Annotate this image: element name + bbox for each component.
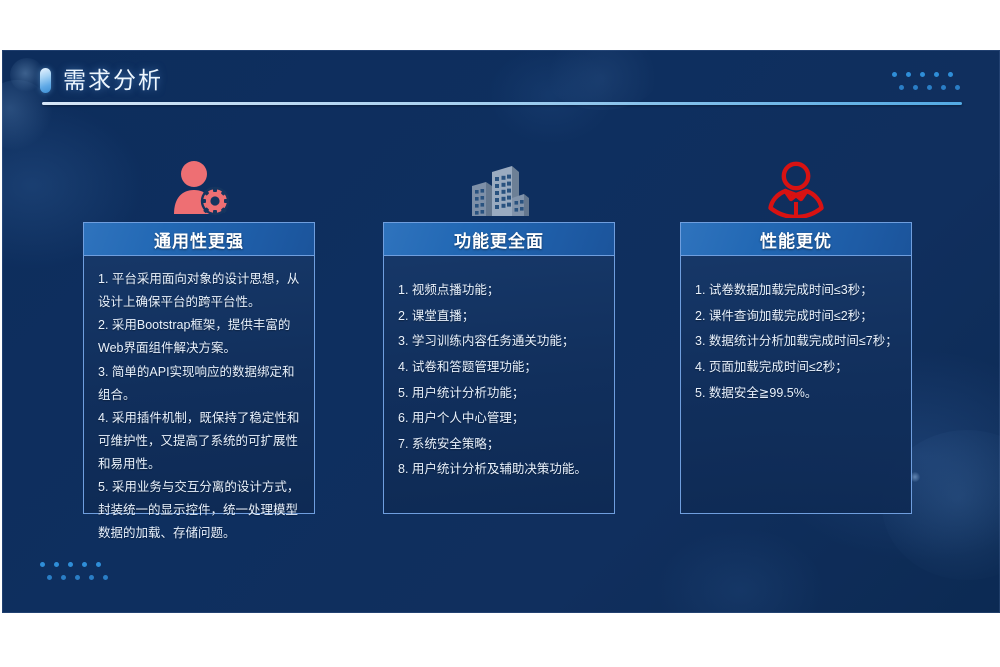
card-body: 1. 平台采用面向对象的设计思想，从设计上确保平台的跨平台性。 2. 采用Boo…: [84, 256, 314, 513]
card-line: 5. 数据安全≧99.5%。: [695, 381, 898, 407]
dot: [899, 85, 904, 90]
card-line: 3. 简单的API实现响应的数据绑定和组合。: [98, 361, 301, 407]
dot: [103, 575, 108, 580]
dot: [906, 72, 911, 77]
card-panel: 功能更全面 1. 视频点播功能； 2. 课堂直播； 3. 学习训练内容任务通关功…: [383, 222, 615, 514]
title-divider: [42, 102, 962, 105]
user-settings-icon: [83, 150, 315, 222]
card-line: 4. 采用插件机制，既保持了稳定性和可维护性，又提高了系统的可扩展性和易用性。: [98, 407, 301, 476]
dot: [934, 72, 939, 77]
title-bullet-icon: [40, 68, 51, 93]
card-line: 5. 用户统计分析功能；: [398, 381, 601, 407]
card-panel: 通用性更强 1. 平台采用面向对象的设计思想，从设计上确保平台的跨平台性。 2.…: [83, 222, 315, 514]
card-line: 3. 数据统计分析加载完成时间≤7秒；: [695, 329, 898, 355]
card-body: 1. 试卷数据加载完成时间≤3秒； 2. 课件查询加载完成时间≤2秒； 3. 数…: [681, 256, 911, 513]
card-title: 通用性更强: [84, 223, 314, 256]
dot: [955, 85, 960, 90]
dot: [892, 72, 897, 77]
card-line: 2. 课件查询加载完成时间≤2秒；: [695, 304, 898, 330]
card-panel: 性能更优 1. 试卷数据加载完成时间≤3秒； 2. 课件查询加载完成时间≤2秒；…: [680, 222, 912, 514]
slide-canvas: 需求分析: [2, 50, 1000, 613]
card-line: 4. 试卷和答题管理功能；: [398, 355, 601, 381]
card-line: 1. 平台采用面向对象的设计思想，从设计上确保平台的跨平台性。: [98, 268, 301, 314]
card-line: 3. 学习训练内容任务通关功能；: [398, 329, 601, 355]
card-line: 6. 用户个人中心管理；: [398, 406, 601, 432]
dot: [920, 72, 925, 77]
business-person-icon: [680, 150, 912, 222]
dot: [927, 85, 932, 90]
dot: [61, 575, 66, 580]
buildings-icon: [383, 150, 615, 222]
dot: [89, 575, 94, 580]
card-line: 4. 页面加载完成时间≤2秒；: [695, 355, 898, 381]
card-line: 1. 试卷数据加载完成时间≤3秒；: [695, 278, 898, 304]
dot: [47, 575, 52, 580]
slide-header: 需求分析: [2, 50, 1000, 120]
card-line: 2. 课堂直播；: [398, 304, 601, 330]
feature-card-performance: 性能更优 1. 试卷数据加载完成时间≤3秒； 2. 课件查询加载完成时间≤2秒；…: [680, 150, 912, 514]
feature-card-list: 通用性更强 1. 平台采用面向对象的设计思想，从设计上确保平台的跨平台性。 2.…: [2, 150, 1000, 570]
dot: [75, 575, 80, 580]
page-title: 需求分析: [40, 68, 163, 93]
dot: [913, 85, 918, 90]
card-line: 1. 视频点播功能；: [398, 278, 601, 304]
feature-card-generality: 通用性更强 1. 平台采用面向对象的设计思想，从设计上确保平台的跨平台性。 2.…: [83, 150, 315, 514]
card-line: 5. 采用业务与交互分离的设计方式，封装统一的显示控件，统一处理模型数据的加载、…: [98, 476, 301, 545]
card-line: 7. 系统安全策略；: [398, 432, 601, 458]
card-title: 性能更优: [681, 223, 911, 256]
page-title-text: 需求分析: [63, 69, 163, 92]
dot: [941, 85, 946, 90]
card-body: 1. 视频点播功能； 2. 课堂直播； 3. 学习训练内容任务通关功能； 4. …: [384, 256, 614, 513]
card-line: 8. 用户统计分析及辅助决策功能。: [398, 457, 601, 483]
card-line: 2. 采用Bootstrap框架，提供丰富的Web界面组件解决方案。: [98, 314, 301, 360]
card-title: 功能更全面: [384, 223, 614, 256]
decorative-dots-top-right: [892, 72, 962, 98]
feature-card-functionality: 功能更全面 1. 视频点播功能； 2. 课堂直播； 3. 学习训练内容任务通关功…: [383, 150, 615, 514]
dot: [948, 72, 953, 77]
